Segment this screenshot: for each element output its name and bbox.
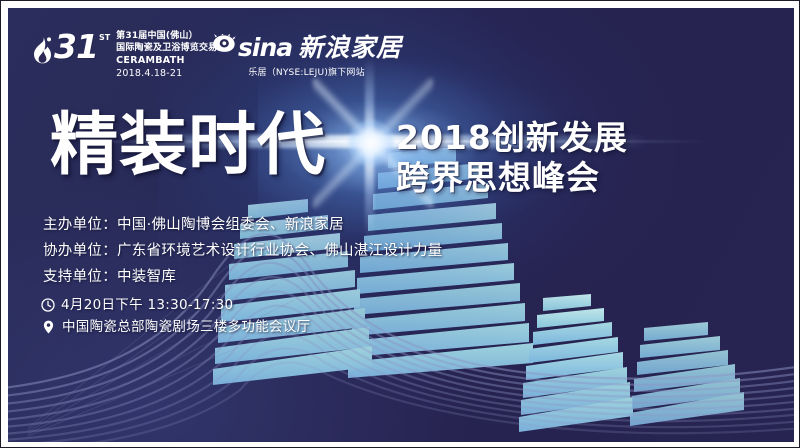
- event-time-row: 4月20日下午 13:30-17:30: [41, 294, 310, 316]
- organizer-host: 主办单位：中国·佛山陶博会组委会、新浪家居: [43, 212, 443, 238]
- sina-home-logo[interactable]: sina 新浪家居 乐居（NYSE:LEJU)旗下网站: [211, 34, 402, 78]
- cerambath-en-name: CERAMBATH: [116, 55, 226, 67]
- organizer-supporter: 支持单位：中装智库: [43, 264, 443, 290]
- organizer-list: 主办单位：中国·佛山陶博会组委会、新浪家居 协办单位：广东省环境艺术设计行业协会…: [43, 212, 443, 290]
- poster-canvas: 31 ST 第31届中国(佛山） 国际陶瓷及卫浴博览交易会 CERAMBATH …: [8, 8, 794, 442]
- clock-icon: [41, 298, 55, 312]
- sina-eye-icon: [211, 34, 237, 54]
- sina-subtitle: 乐居（NYSE:LEJU)旗下网站: [211, 65, 402, 78]
- location-pin-icon: [43, 320, 54, 334]
- cerambath-cn-line2: 国际陶瓷及卫浴博览交易会: [116, 43, 226, 55]
- poster-subtitle: 2018创新发展 跨界思想峰会: [396, 118, 628, 198]
- event-location-text: 中国陶瓷总部陶瓷剧场三楼多功能会议厅: [62, 316, 310, 338]
- sina-wordmark: sina: [238, 35, 292, 60]
- organizer-coorganizer: 协办单位：广东省环境艺术设计行业协会、佛山湛江设计力量: [43, 238, 443, 264]
- subtitle-line-1: 2018创新发展: [396, 118, 628, 158]
- event-time-text: 4月20日下午 13:30-17:30: [61, 294, 233, 316]
- subtitle-line-2: 跨界思想峰会: [396, 158, 628, 198]
- poster-main-title: 精装时代: [50, 112, 326, 180]
- flame-icon: [33, 37, 52, 64]
- event-meta: 4月20日下午 13:30-17:30 中国陶瓷总部陶瓷剧场三楼多功能会议厅: [41, 294, 310, 338]
- sina-brand-cn: 新浪家居: [298, 35, 402, 60]
- edition-suffix: ST: [99, 33, 110, 42]
- cerambath-logo[interactable]: 31 ST 第31届中国(佛山） 国际陶瓷及卫浴博览交易会 CERAMBATH …: [33, 30, 227, 80]
- poster-frame: 31 ST 第31届中国(佛山） 国际陶瓷及卫浴博览交易会 CERAMBATH …: [0, 0, 800, 448]
- sina-logo-row: sina 新浪家居: [211, 34, 402, 61]
- header-logos: 31 ST 第31届中国(佛山） 国际陶瓷及卫浴博览交易会 CERAMBATH …: [8, 8, 794, 94]
- edition-number: 31: [54, 30, 98, 63]
- cerambath-cn-line1: 第31届中国(佛山）: [116, 31, 226, 43]
- cerambath-dates: 2018.4.18-21: [116, 68, 226, 80]
- event-location-row: 中国陶瓷总部陶瓷剧场三楼多功能会议厅: [41, 316, 310, 338]
